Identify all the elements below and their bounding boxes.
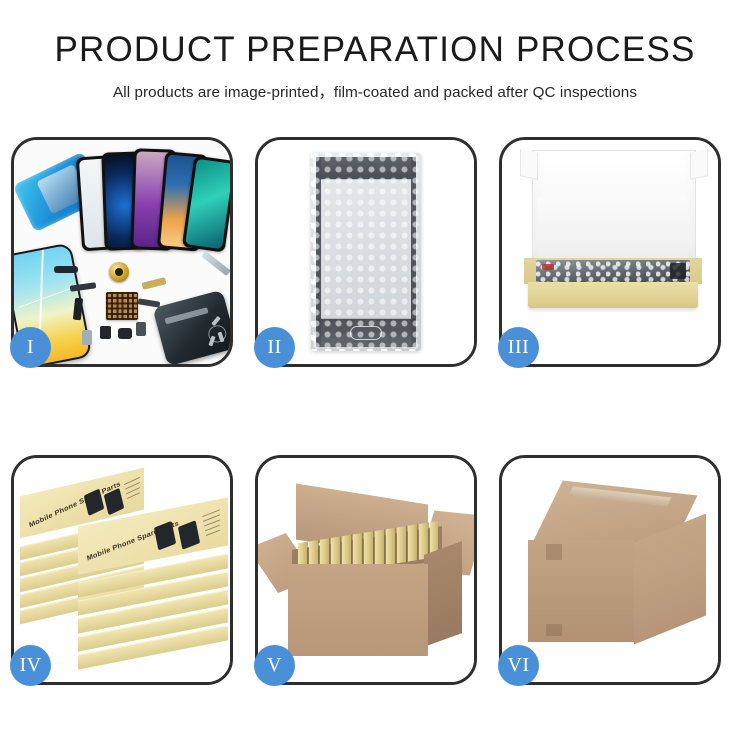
step-5-image — [258, 458, 474, 682]
flex-cable-icon — [138, 298, 161, 307]
phone-print-icon — [178, 520, 200, 550]
tray-top — [524, 258, 702, 284]
connector-icon — [100, 326, 111, 339]
carton-front-panel — [528, 540, 634, 642]
tray-front — [528, 282, 698, 308]
page-subtitle: All products are image-printed，film-coat… — [0, 80, 750, 102]
process-step-1: I — [11, 137, 233, 367]
box-fine-print — [206, 530, 220, 536]
step-badge-5: V — [254, 645, 295, 686]
carton-front-panel — [288, 564, 428, 656]
packed-box — [397, 526, 406, 563]
step-badge-1: I — [10, 327, 51, 368]
step-4-image: Mobile Phone Spare Parts — [14, 458, 230, 682]
phone-display-fan — [76, 146, 226, 250]
open-carton-icon — [276, 492, 462, 662]
packed-box — [375, 529, 384, 566]
kraft-tray-box-icon — [524, 258, 702, 310]
kraft-box-stacks: Mobile Phone Spare Parts — [16, 476, 230, 672]
packed-box — [386, 528, 395, 565]
header: PRODUCT PREPARATION PROCESS All products… — [0, 0, 750, 102]
box-fine-print — [127, 492, 140, 499]
page-title: PRODUCT PREPARATION PROCESS — [0, 32, 750, 69]
process-step-5: V — [255, 455, 477, 685]
step-badge-2: II — [254, 327, 295, 368]
step-6-image — [502, 458, 718, 682]
infographic-sheet: PRODUCT PREPARATION PROCESS All products… — [0, 0, 750, 750]
step-2-image — [258, 140, 474, 364]
chip-grid-icon — [106, 292, 138, 320]
tool-icon — [201, 251, 230, 276]
carton-side-panel — [424, 541, 462, 647]
bubble-wrap-texture — [311, 153, 421, 351]
camera-ring-icon — [109, 262, 129, 282]
process-step-grid: I II — [11, 137, 739, 685]
process-step-3: III — [499, 137, 721, 367]
step-badge-6: VI — [498, 645, 539, 686]
step-1-image — [14, 140, 230, 364]
step-3-image — [502, 140, 718, 364]
step-badge-3: III — [498, 327, 539, 368]
connector-icon — [82, 330, 92, 345]
carton-flap-seam — [546, 544, 562, 560]
connector-icon — [136, 322, 146, 336]
sealed-carton-icon — [522, 488, 706, 656]
bubble-wrapped-screen-icon — [311, 153, 421, 351]
process-step-2: II — [255, 137, 477, 367]
connector-icon — [118, 328, 132, 339]
step-badge-4: IV — [10, 645, 51, 686]
flex-cable-icon — [142, 277, 167, 290]
process-step-4: Mobile Phone Spare Parts — [11, 455, 233, 685]
connector-icon — [54, 266, 78, 273]
process-step-6: VI — [499, 455, 721, 685]
foam-pad-icon — [538, 198, 688, 260]
wrapped-screen-in-tray — [536, 260, 690, 282]
packed-box — [408, 524, 417, 561]
carton-flap-seam — [546, 624, 562, 636]
phone-back-housing-icon — [152, 290, 230, 364]
